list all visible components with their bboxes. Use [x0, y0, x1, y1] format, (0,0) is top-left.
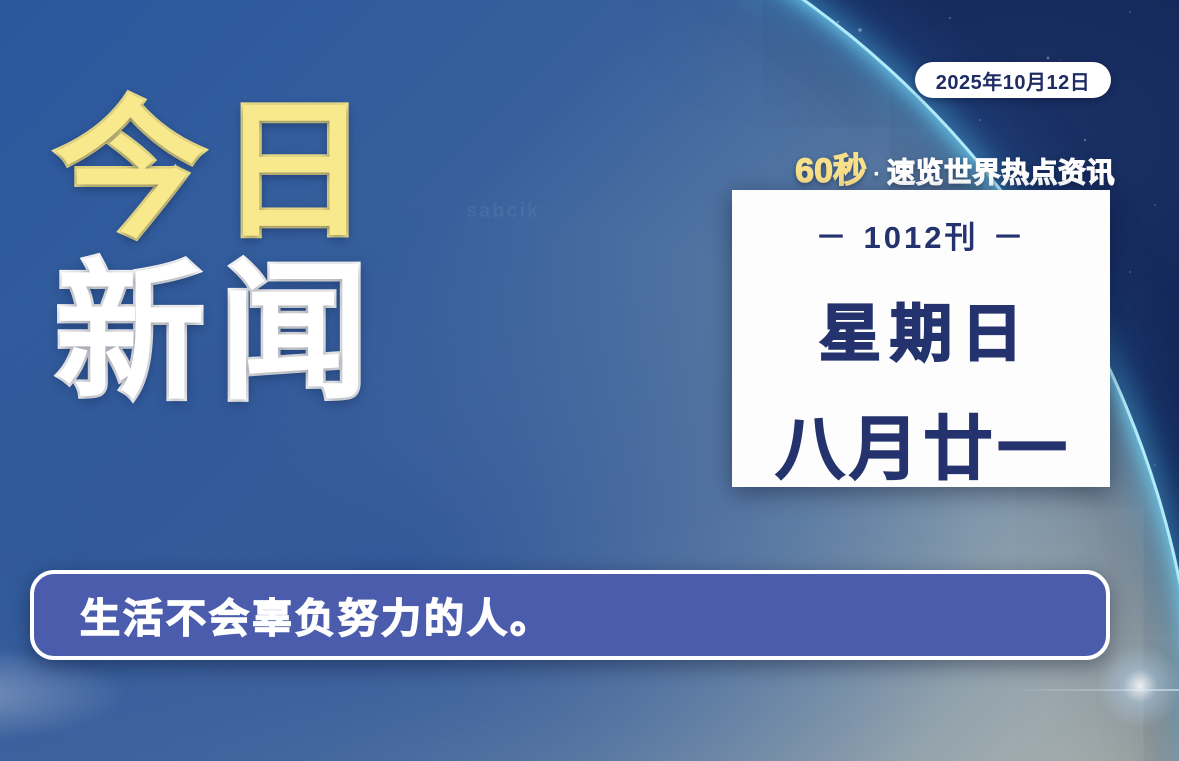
weekday-label: 星期日	[810, 283, 1032, 373]
issue-dash-left: －	[816, 212, 850, 257]
lunar-date-label: 八月廿一	[771, 393, 1071, 494]
headline-line-1: 今日	[55, 96, 525, 246]
tagline: 60秒 · 速览世界热点资讯	[735, 143, 1115, 192]
headline-line-2: 新闻	[55, 258, 525, 408]
tagline-text: 速览世界热点资讯	[887, 151, 1115, 191]
tagline-separator: ·	[867, 161, 887, 189]
news-poster: sabcik 今日 新闻 2025年10月12日 60秒 · 速览世界热点资讯 …	[0, 0, 1179, 761]
issue-line: － 1012刊 －	[816, 212, 1027, 257]
issue-info-card: － 1012刊 － 星期日 八月廿一	[732, 190, 1110, 487]
tagline-highlight: 60秒	[795, 143, 867, 192]
date-badge: 2025年10月12日	[915, 62, 1111, 98]
issue-dash-right: －	[992, 212, 1026, 257]
poster-headline: 今日 新闻	[55, 96, 525, 408]
quote-banner: 生活不会辜负努力的人。	[30, 570, 1110, 660]
quote-text: 生活不会辜负努力的人。	[80, 586, 553, 644]
issue-number: 1012刊	[864, 212, 979, 257]
